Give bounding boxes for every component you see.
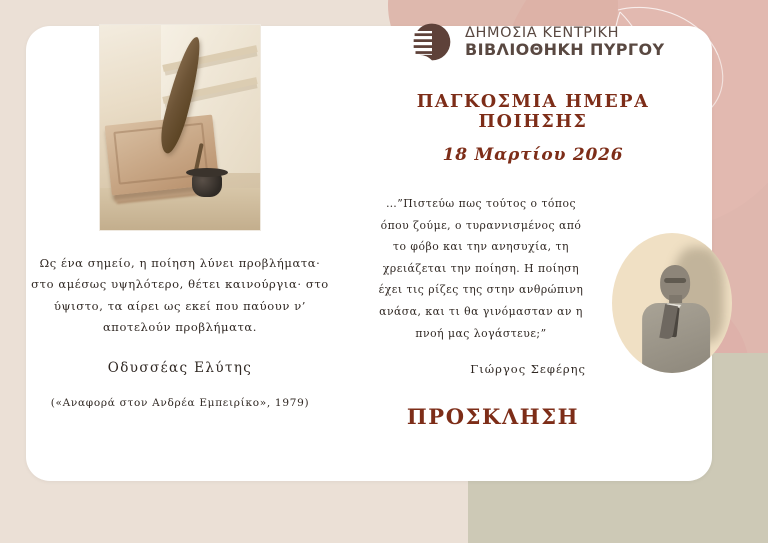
library-logo-text: ΔΗΜΟΣΙΑ ΚΕΝΤΡΙΚΗ ΒΙΒΛΙΟΘΗΚΗ ΠΥΡΓΟΥ [465,25,665,60]
left-column: Ως ένα σημείο, η ποίηση λύνει προβλήματα… [10,24,350,409]
library-name-line1: ΔΗΜΟΣΙΑ ΚΕΝΤΡΙΚΗ [465,25,665,42]
poem-source-citation: («Αναφορά στον Ανδρέα Εμπειρίκο», 1979) [10,397,350,409]
seferis-quote: …”Πιστεύω πως τούτος ο τόπος όπου ζούμε,… [372,193,590,344]
poem-author: Οδυσσέας Ελύτης [10,360,350,376]
giorgos-seferis-portrait [612,233,732,373]
event-title: ΠΑΓΚΟΣΜΙΑ ΗΜΕΡΑ ΠΟΙΗΣΗΣ [368,92,698,132]
event-date: 18 Μαρτίου 2026 [368,145,698,165]
library-book-pages-icon [410,20,454,64]
inkwell-icon [192,173,222,197]
library-name-line2: ΒΙΒΛΙΟΘΗΚΗ ΠΥΡΓΟΥ [465,41,665,59]
library-logo[interactable]: ΔΗΜΟΣΙΑ ΚΕΝΤΡΙΚΗ ΒΙΒΛΙΟΘΗΚΗ ΠΥΡΓΟΥ [368,20,698,64]
poem-text: Ως ένα σημείο, η ποίηση λύνει προβλήματα… [30,253,330,338]
quote-author: Γιώργος Σεφέρης [368,362,586,376]
portrait-figure [636,261,714,373]
invitation-poster: Ως ένα σημείο, η ποίηση λύνει προβλήματα… [0,0,768,543]
quill-inkwell-old-book-photo [99,24,261,231]
invitation-label: ΠΡΟΣΚΛΗΣΗ [368,404,618,429]
photo-table-surface [100,188,260,230]
